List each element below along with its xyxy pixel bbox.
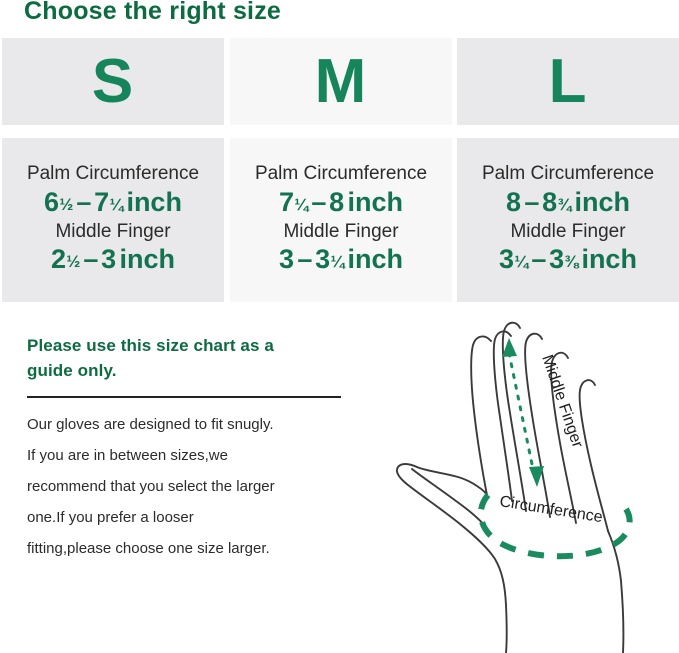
note-divider: [27, 396, 341, 398]
size-letter-cell-s: S: [2, 38, 224, 125]
size-column-s: S Palm Circumference 6½–7¼inch Middle Fi…: [2, 38, 224, 302]
size-chart-table: S Palm Circumference 6½–7¼inch Middle Fi…: [2, 38, 677, 302]
size-letter-m: M: [315, 51, 368, 113]
middle-finger-label-l: Middle Finger: [510, 221, 625, 243]
palm-circumference-label-l: Palm Circumference: [482, 163, 654, 185]
note-heading-line-2: guide only.: [27, 359, 357, 384]
note-body: Our gloves are designed to fit snugly. I…: [27, 410, 357, 564]
palm-circumference-label-m: Palm Circumference: [255, 163, 427, 185]
size-letter-cell-l: L: [457, 38, 679, 125]
middle-finger-label-m: Middle Finger: [283, 221, 398, 243]
note-body-line-3: recommend that you select the larger: [27, 472, 357, 503]
note-body-line-4: one.If you prefer a looser: [27, 503, 357, 534]
palm-circumference-label-s: Palm Circumference: [27, 163, 199, 185]
guidance-note: Please use this size chart as a guide on…: [27, 334, 357, 565]
size-letter-l: L: [549, 51, 588, 113]
size-spec-cell-m: Palm Circumference 7¼–8inch Middle Finge…: [230, 138, 452, 302]
size-letter-cell-m: M: [230, 38, 452, 125]
size-spec-cell-s: Palm Circumference 6½–7¼inch Middle Fing…: [2, 138, 224, 302]
note-body-line-5: fitting,please choose one size larger.: [27, 534, 357, 565]
size-spec-cell-l: Palm Circumference 8–8¾inch Middle Finge…: [457, 138, 679, 302]
size-column-m: M Palm Circumference 7¼–8inch Middle Fin…: [230, 38, 452, 302]
note-heading-line-1: Please use this size chart as a: [27, 334, 357, 359]
palm-circumference-value-s: 6½–7¼inch: [44, 186, 182, 219]
note-body-line-1: Our gloves are designed to fit snugly.: [27, 410, 357, 441]
size-column-l: L Palm Circumference 8–8¾inch Middle Fin…: [457, 38, 679, 302]
middle-finger-value-s: 2½–3inch: [51, 243, 175, 276]
palm-circumference-value-l: 8–8¾inch: [506, 186, 630, 219]
size-letter-s: S: [92, 51, 134, 113]
hand-outline-icon: [397, 323, 624, 653]
middle-finger-label-s: Middle Finger: [55, 221, 170, 243]
middle-finger-value-l: 3¼–3⅜inch: [499, 243, 637, 276]
middle-finger-measure-arrow: [502, 338, 544, 487]
page-title: Choose the right size: [24, 0, 281, 26]
hand-measurement-diagram: Middle Finger Circumference: [392, 305, 679, 653]
palm-circumference-value-m: 7¼–8inch: [279, 186, 403, 219]
middle-finger-value-m: 3–3¼inch: [279, 243, 403, 276]
note-body-line-2: If you are in between sizes,we: [27, 441, 357, 472]
note-heading: Please use this size chart as a guide on…: [27, 334, 357, 383]
circumference-diagram-label: Circumference: [498, 493, 604, 526]
